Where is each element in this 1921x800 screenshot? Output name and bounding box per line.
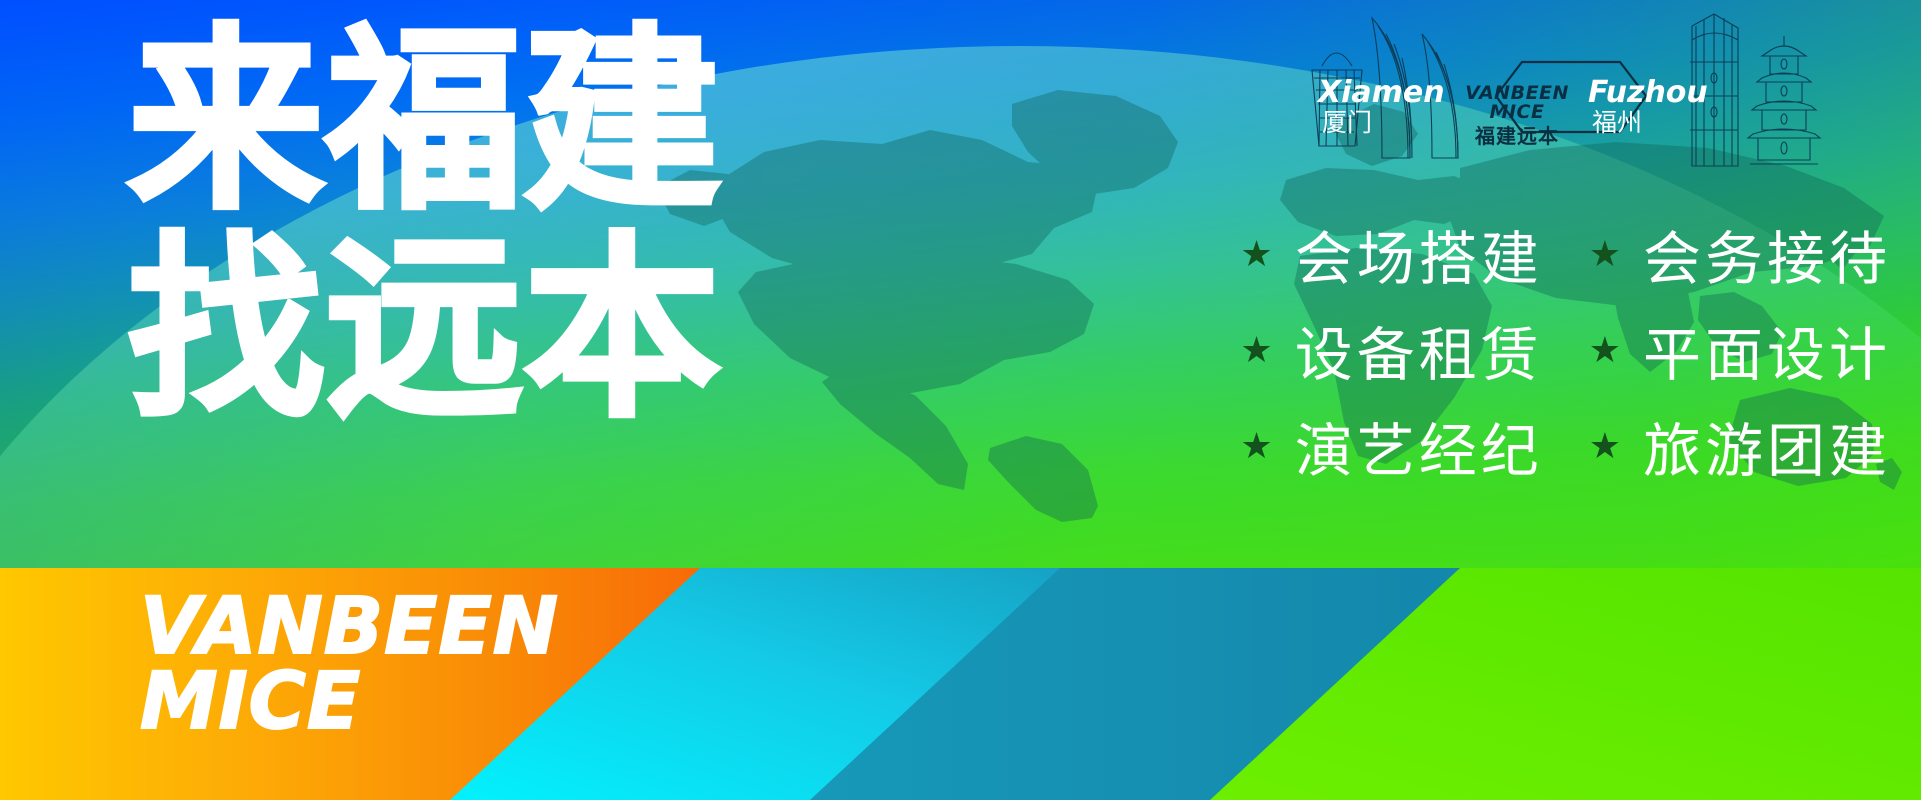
city-name-fuzhou-cn: 福州 <box>1592 110 1642 135</box>
star-icon: ★ <box>1240 428 1272 464</box>
star-icon: ★ <box>1589 236 1621 272</box>
service-item-1[interactable]: ★ 会务接待 <box>1589 212 1891 296</box>
city-name-xiamen-cn: 厦门 <box>1322 110 1372 135</box>
star-icon: ★ <box>1589 332 1621 368</box>
headline-line-1: 来福建 <box>128 28 722 216</box>
star-icon: ★ <box>1240 236 1272 272</box>
service-label: 演艺经纪 <box>1295 404 1543 488</box>
service-item-5[interactable]: ★ 旅游团建 <box>1589 404 1891 488</box>
promotional-banner: 来福建 找远本 ★ 会场搭建 ★ 会务接待 ★ 设备租赁 ★ 平面设计 ★ <box>0 0 1921 800</box>
service-label: 会务接待 <box>1643 212 1891 296</box>
service-item-2[interactable]: ★ 设备租赁 <box>1240 308 1542 392</box>
service-label: 旅游团建 <box>1643 404 1891 488</box>
city-name-fuzhou-en: Fuzhou <box>1588 78 1708 108</box>
star-icon: ★ <box>1240 332 1272 368</box>
service-label: 设备租赁 <box>1295 308 1543 392</box>
service-item-0[interactable]: ★ 会场搭建 <box>1240 212 1542 296</box>
city-logo-cluster: Xiamen 厦门 Fuzhou 福州 VANBEEN MICE 福建远本 <box>1300 0 1920 180</box>
hex-logo-line-3: 福建远本 <box>1442 120 1592 149</box>
headline-line-2: 找远本 <box>128 236 722 424</box>
star-icon: ★ <box>1589 428 1621 464</box>
service-item-3[interactable]: ★ 平面设计 <box>1589 308 1891 392</box>
service-label: 会场搭建 <box>1295 212 1543 296</box>
service-item-4[interactable]: ★ 演艺经纪 <box>1240 404 1542 488</box>
brand-wordmark: VANBEEN MICE <box>140 590 559 740</box>
page-title: 来福建 找远本 <box>128 28 722 424</box>
service-label: 平面设计 <box>1643 308 1891 392</box>
brand-line-2: MICE <box>140 665 559 740</box>
brand-footer-band: VANBEEN MICE <box>0 568 1921 800</box>
city-name-xiamen-en: Xiamen <box>1318 78 1445 108</box>
brand-line-1: VANBEEN <box>140 590 559 665</box>
service-list: ★ 会场搭建 ★ 会务接待 ★ 设备租赁 ★ 平面设计 ★ 演艺经纪 ★ 旅游团… <box>1240 212 1891 488</box>
